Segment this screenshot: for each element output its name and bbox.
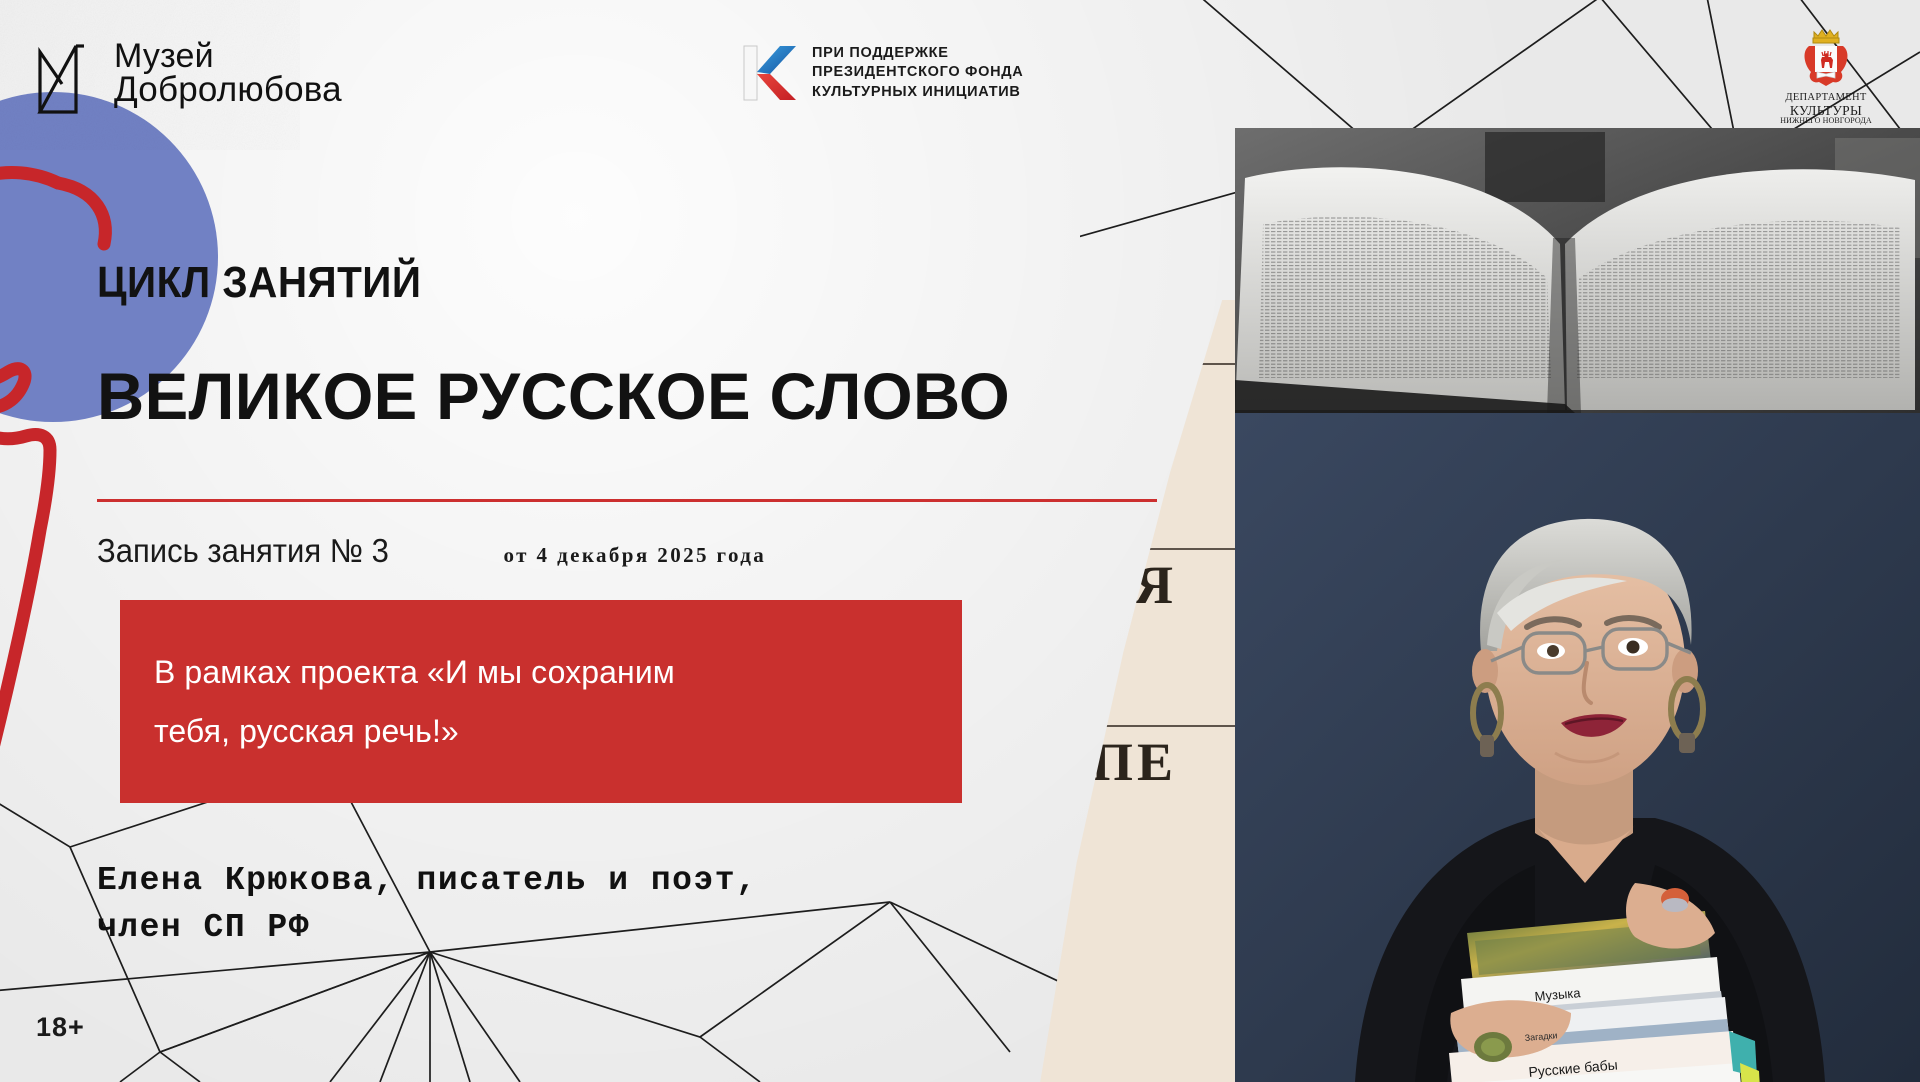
poster-canvas: ДВ РЪ у об уд. сл а № НАЯ очень дресо № … [0, 0, 1920, 1082]
open-book-photo [1235, 128, 1920, 413]
project-callout-box: В рамках проекта «И мы сохраним тебя, ру… [120, 600, 962, 803]
department-logo-line-3: НИЖНЕГО НОВГОРОДА [1780, 117, 1872, 125]
speaker-portrait-photo: Музыка Загадки Русские бабы Елена Крюков… [1235, 413, 1920, 1082]
page-title: ВЕЛИКОЕ РУССКОЕ СЛОВО [97, 358, 1010, 434]
fund-logo-line-1: ПРИ ПОДДЕРЖКЕ [812, 45, 1023, 62]
speaker-credit-line-2: член СП РФ [97, 905, 977, 952]
fund-logo-line-3: КУЛЬТУРНЫХ ИНИЦИАТИВ [812, 84, 1023, 101]
kicker-text: ЦИКЛ ЗАНЯТИЙ [97, 258, 421, 308]
project-callout-line-2: тебя, русская речь!» [154, 702, 928, 760]
department-of-culture-logo[interactable]: ДЕПАРТАМЕНТ КУЛЬТУРЫ НИЖНЕГО НОВГОРОДА [1766, 26, 1886, 126]
museum-logo-line-1: Музей [114, 40, 342, 72]
russian-flag-k-icon [740, 42, 800, 104]
department-logo-line-2: КУЛЬТУРЫ [1790, 104, 1862, 118]
project-callout-line-1: В рамках проекта «И мы сохраним [154, 643, 928, 701]
record-info-row: Запись занятия № 3 от 4 декабря 2025 год… [97, 532, 766, 570]
age-rating-badge: 18+ [36, 1012, 85, 1043]
museum-logo-line-2: Добролюбова [114, 73, 342, 106]
red-divider [97, 499, 1157, 502]
museum-logo[interactable]: Музей Добролюбова [36, 38, 342, 116]
fund-logo-line-2: ПРЕЗИДЕНТСКОГО ФОНДА [812, 64, 1023, 81]
record-number-label: Запись занятия № 3 [97, 532, 389, 570]
speaker-credit: Елена Крюкова, писатель и поэт, член СП … [97, 858, 977, 952]
presidential-fund-logo[interactable]: ПРИ ПОДДЕРЖКЕ ПРЕЗИДЕНТСКОГО ФОНДА КУЛЬТ… [740, 42, 1023, 104]
speaker-credit-line-1: Елена Крюкова, писатель и поэт, [97, 858, 977, 905]
md-monogram-icon [36, 38, 108, 116]
nizhny-novgorod-coat-of-arms-icon [1797, 26, 1855, 92]
record-date-label: от 4 декабря 2025 года [504, 543, 767, 568]
